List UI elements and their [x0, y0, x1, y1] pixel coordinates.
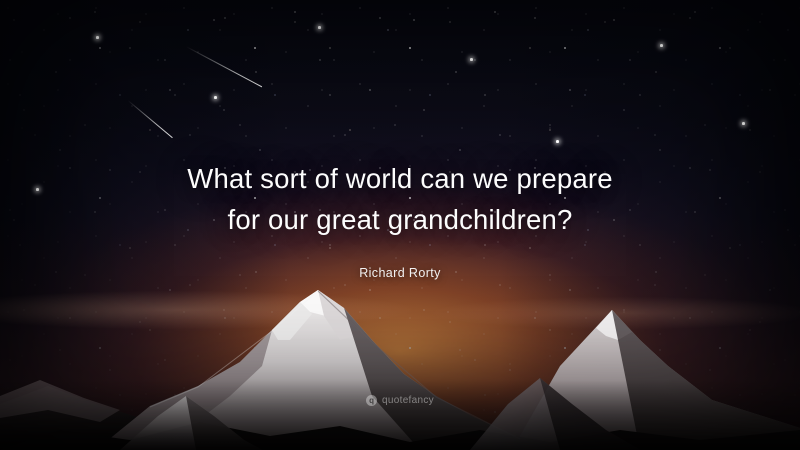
- bright-star: [214, 96, 217, 99]
- bright-star: [742, 122, 745, 125]
- quote-line-1: What sort of world can we prepare: [80, 158, 720, 199]
- bright-star: [318, 26, 321, 29]
- quote-text: What sort of world can we prepare for ou…: [0, 158, 800, 240]
- bright-star: [96, 36, 99, 39]
- quote-line-2: for our great grandchildren?: [80, 199, 720, 240]
- bright-star: [470, 58, 473, 61]
- bright-star: [556, 140, 559, 143]
- watermark: q quotefancy: [0, 395, 800, 406]
- bright-star: [660, 44, 663, 47]
- quote-wallpaper: What sort of world can we prepare for ou…: [0, 0, 800, 450]
- bottom-vignette: [0, 380, 800, 450]
- quotefancy-logo-icon: q: [366, 395, 377, 406]
- watermark-label: quotefancy: [382, 395, 434, 406]
- author-name: Richard Rorty: [0, 266, 800, 280]
